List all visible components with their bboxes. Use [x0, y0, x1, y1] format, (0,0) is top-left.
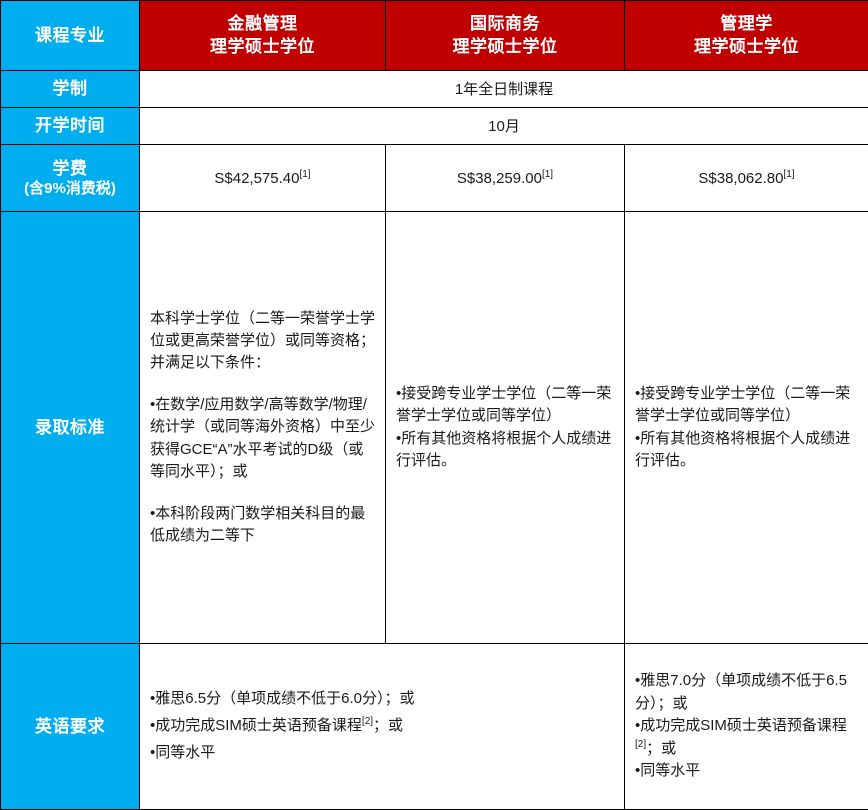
- table-row-intake: 开学时间 10月: [1, 108, 868, 145]
- value-tuition-finance: S$42,575.40[1]: [140, 145, 386, 212]
- tuition-ib-amount: S$38,259.00: [457, 170, 542, 187]
- tuition-ib-footnote: [1]: [542, 169, 553, 180]
- header-ib-line1: 国际商务: [470, 14, 540, 33]
- admission-finance-intro: 本科学士学位（二等一荣誉学士学位或更高荣誉学位）或同等资格；并满足以下条件：: [150, 308, 377, 375]
- english-merged-bullet-2-text: •成功完成SIM硕士英语预备课程: [150, 717, 362, 734]
- spacer: [150, 483, 377, 503]
- value-intake: 10月: [140, 108, 868, 145]
- value-tuition-international-business: S$38,259.00[1]: [386, 145, 625, 212]
- table-row-tuition: 学费 (含9%消费税) S$42,575.40[1] S$38,259.00[1…: [1, 145, 868, 212]
- admission-ib-bullet-1: •接受跨专业学士学位（二等一荣誉学士学位或同等学位）: [396, 383, 616, 427]
- table-header-row: 课程专业 金融管理 理学硕士学位 国际商务 理学硕士学位 管理学 理学硕士学位: [1, 1, 868, 71]
- english-merged-bullet-2: •成功完成SIM硕士英语预备课程[2]；或: [150, 713, 616, 740]
- english-management-bullet-1: •雅思7.0分（单项成绩不低于6.5分）；或: [635, 670, 860, 715]
- row-label-tuition-sub: (含9%消费税): [3, 179, 137, 198]
- table-row-duration: 学制 1年全日制课程: [1, 71, 868, 108]
- admission-finance-bullet-1: •在数学/应用数学/高等数学/物理/统计学（或同等海外资格）中至少获得GCE“A…: [150, 394, 377, 483]
- header-finance-line2: 理学硕士学位: [146, 36, 379, 58]
- admission-management-bullet-2: •所有其他资格将根据个人成绩进行评估。: [635, 428, 860, 472]
- header-program-label: 课程专业: [35, 26, 105, 45]
- header-cell-finance: 金融管理 理学硕士学位: [140, 1, 386, 71]
- row-label-english-requirements: 英语要求: [1, 644, 140, 810]
- table-row-admission-criteria: 录取标准 本科学士学位（二等一荣誉学士学位或更高荣誉学位）或同等资格；并满足以下…: [1, 212, 868, 644]
- english-merged-bullet-2-suffix: ；或: [373, 717, 403, 734]
- english-merged-bullet-1: •雅思6.5分（单项成绩不低于6.0分）；或: [150, 686, 616, 713]
- header-ib-line2: 理学硕士学位: [392, 36, 618, 58]
- english-management-bullet-3: •同等水平: [635, 760, 860, 783]
- row-label-duration: 学制: [1, 71, 140, 108]
- english-management-bullet-2-text: •成功完成SIM硕士英语预备课程: [635, 717, 847, 734]
- row-label-tuition-main: 学费: [53, 159, 88, 178]
- header-finance-line1: 金融管理: [228, 14, 298, 33]
- row-label-intake: 开学时间: [1, 108, 140, 145]
- tuition-finance-amount: S$42,575.40: [214, 170, 299, 187]
- tuition-management-amount: S$38,062.80: [698, 170, 783, 187]
- english-management-bullet-2-footnote: [2]: [635, 739, 646, 750]
- english-merged-bullet-3: •同等水平: [150, 740, 616, 767]
- value-admission-finance: 本科学士学位（二等一荣誉学士学位或更高荣誉学位）或同等资格；并满足以下条件： •…: [140, 212, 386, 644]
- header-cell-program: 课程专业: [1, 1, 140, 71]
- admission-management-bullet-1: •接受跨专业学士学位（二等一荣誉学士学位或同等学位）: [635, 383, 860, 427]
- admission-ib-bullet-2: •所有其他资格将根据个人成绩进行评估。: [396, 428, 616, 472]
- value-english-management: •雅思7.0分（单项成绩不低于6.5分）；或 •成功完成SIM硕士英语预备课程[…: [625, 644, 868, 810]
- english-merged-bullet-2-footnote: [2]: [362, 716, 373, 727]
- row-label-tuition: 学费 (含9%消费税): [1, 145, 140, 212]
- admission-finance-bullet-2: •本科阶段两门数学相关科目的最低成绩为二等下: [150, 503, 377, 547]
- course-comparison-table: 课程专业 金融管理 理学硕士学位 国际商务 理学硕士学位 管理学 理学硕士学位 …: [0, 0, 868, 810]
- header-management-line2: 理学硕士学位: [631, 36, 862, 58]
- english-management-bullet-2: •成功完成SIM硕士英语预备课程[2]；或: [635, 715, 860, 760]
- english-management-bullet-2-suffix: ；或: [646, 740, 676, 757]
- row-label-admission-criteria: 录取标准: [1, 212, 140, 644]
- value-admission-international-business: •接受跨专业学士学位（二等一荣誉学士学位或同等学位） •所有其他资格将根据个人成…: [386, 212, 625, 644]
- value-english-merged: •雅思6.5分（单项成绩不低于6.0分）；或 •成功完成SIM硕士英语预备课程[…: [140, 644, 625, 810]
- spacer: [150, 374, 377, 394]
- value-admission-management: •接受跨专业学士学位（二等一荣誉学士学位或同等学位） •所有其他资格将根据个人成…: [625, 212, 868, 644]
- header-management-line1: 管理学: [720, 14, 773, 33]
- value-tuition-management: S$38,062.80[1]: [625, 145, 868, 212]
- course-comparison-table-wrapper: 课程专业 金融管理 理学硕士学位 国际商务 理学硕士学位 管理学 理学硕士学位 …: [0, 0, 868, 809]
- tuition-management-footnote: [1]: [783, 169, 794, 180]
- table-row-english-requirements: 英语要求 •雅思6.5分（单项成绩不低于6.0分）；或 •成功完成SIM硕士英语…: [1, 644, 868, 810]
- tuition-finance-footnote: [1]: [299, 169, 310, 180]
- header-cell-international-business: 国际商务 理学硕士学位: [386, 1, 625, 71]
- header-cell-management: 管理学 理学硕士学位: [625, 1, 868, 71]
- value-duration: 1年全日制课程: [140, 71, 868, 108]
